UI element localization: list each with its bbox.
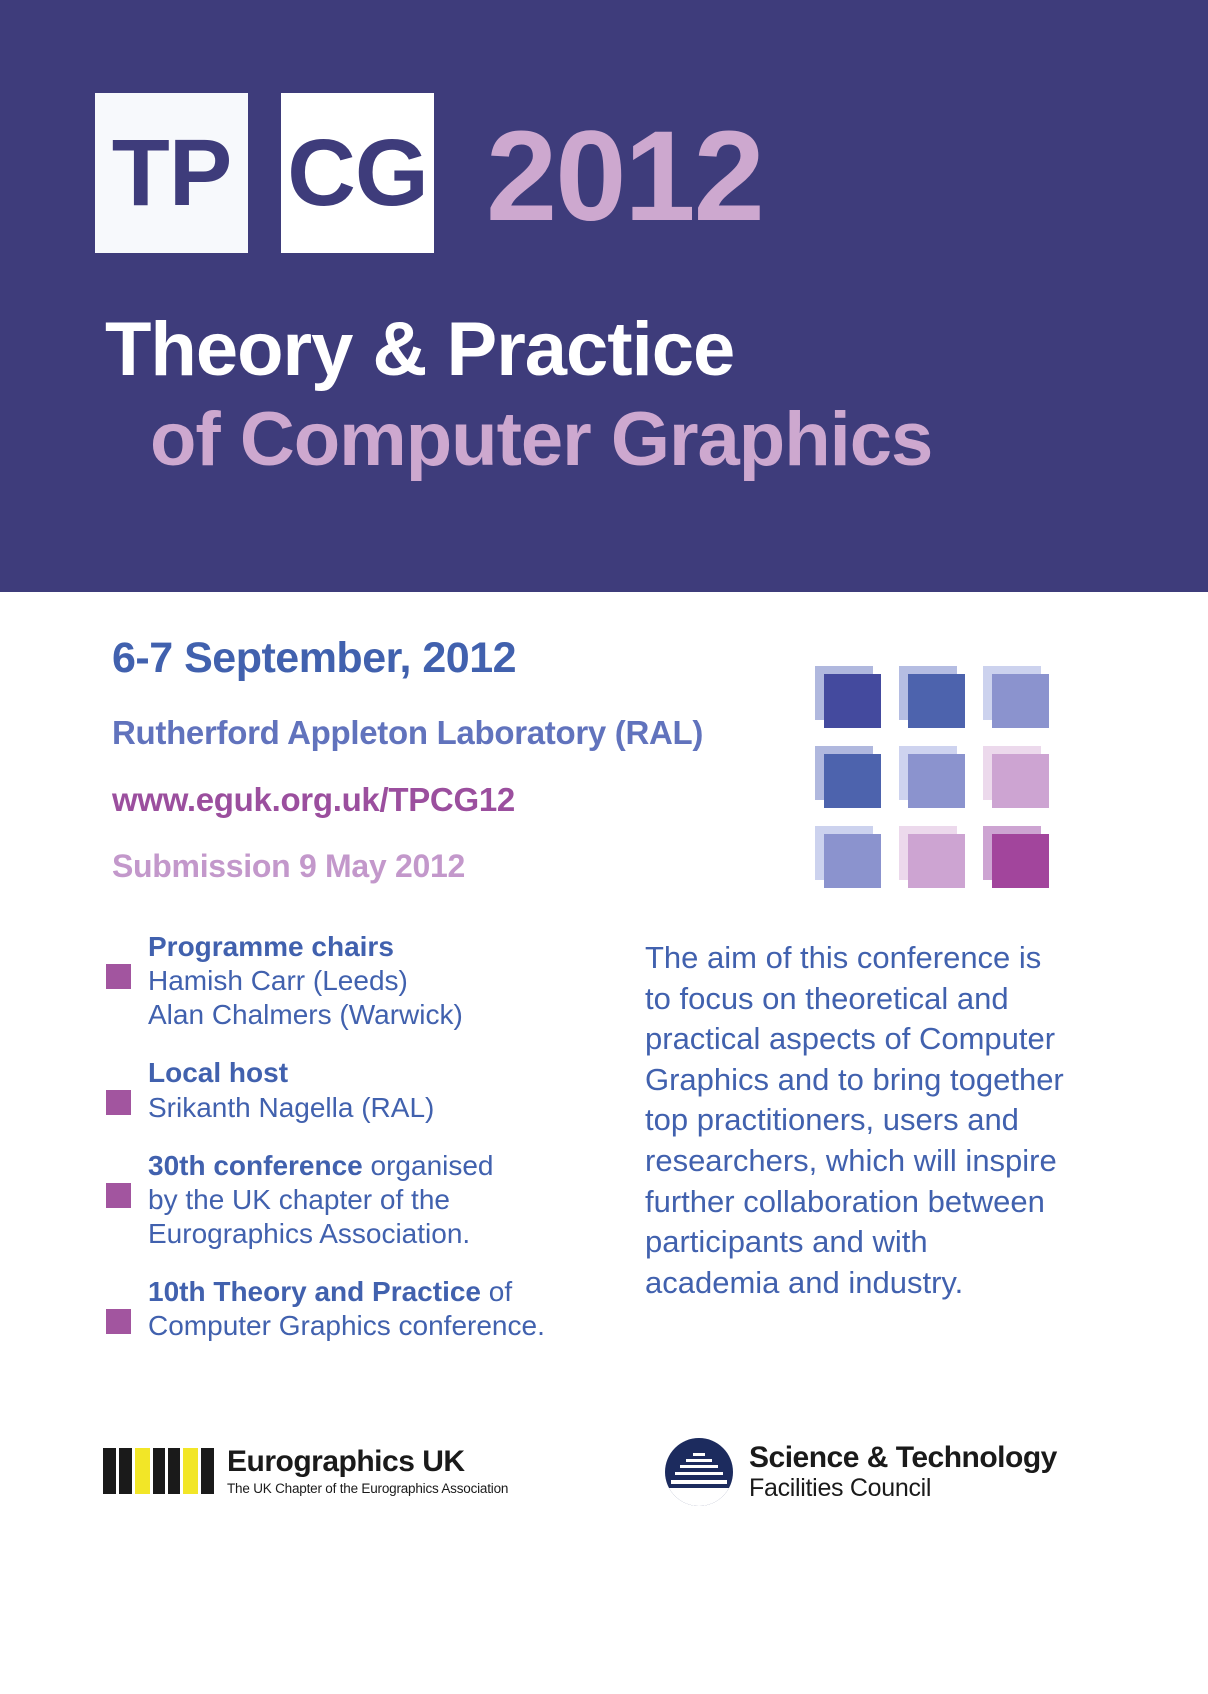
conference-url[interactable]: www.eguk.org.uk/TPCG12 [112,781,515,819]
bullet-text: Programme chairsHamish Carr (Leeds)Alan … [148,930,606,1032]
grid-square-7 [815,826,881,888]
grid-square-face [824,834,881,888]
bullet-heading: Programme chairs [148,930,606,964]
logo-box-tp: TP [95,93,248,253]
programme-info-list: Programme chairsHamish Carr (Leeds)Alan … [106,930,606,1368]
bullet-heading-inline: 30th conference [148,1150,363,1181]
bullet-item: 30th conference organisedby the UK chapt… [106,1149,606,1251]
grid-square-1 [815,666,881,728]
eguk-name: Eurographics UK [227,1446,508,1478]
poster-title-line2: of Computer Graphics [150,400,932,480]
bullet-line: Alan Chalmers (Warwick) [148,998,606,1032]
grid-square-face [992,674,1049,728]
bullet-line: Hamish Carr (Leeds) [148,964,606,998]
logo-text-cg: CG [287,126,428,221]
bullet-heading-rest: of [481,1276,512,1307]
bullet-heading-inline: 10th Theory and Practice [148,1276,481,1307]
conference-date: 6-7 September, 2012 [112,634,516,683]
bullet-line: Computer Graphics conference. [148,1309,606,1343]
decorative-squares-grid [815,666,1050,891]
bullet-square-icon [106,1309,131,1334]
bullet-heading-rest: organised [363,1150,494,1181]
bullet-square-icon [106,964,131,989]
grid-square-face [992,834,1049,888]
bullet-square-icon [106,1183,131,1208]
grid-square-face [908,674,965,728]
grid-square-8 [899,826,965,888]
poster-header-band: TP CG 2012 Theory & Practice of Computer… [0,0,1208,592]
eguk-logo: Eurographics UK The UK Chapter of the Eu… [103,1446,508,1497]
grid-square-face [992,754,1049,808]
bullet-heading: Local host [148,1056,606,1090]
poster-title-line1: Theory & Practice [105,310,734,390]
grid-square-face [824,674,881,728]
eguk-mark-icon [103,1448,217,1494]
tpcg-logo: TP CG 2012 [95,93,763,253]
bullet-square-icon [106,1090,131,1115]
grid-square-3 [983,666,1049,728]
bullet-line: Eurographics Association. [148,1217,606,1251]
grid-square-6 [983,746,1049,808]
bullet-item: 10th Theory and Practice ofComputer Grap… [106,1275,606,1343]
conference-venue: Rutherford Appleton Laboratory (RAL) [112,714,703,752]
grid-square-4 [815,746,881,808]
grid-square-5 [899,746,965,808]
stfc-line2: Facilities Council [749,1474,1057,1503]
bullet-text: Local hostSrikanth Nagella (RAL) [148,1056,606,1124]
stfc-sunburst-icon [665,1438,733,1506]
bullet-line: Srikanth Nagella (RAL) [148,1091,606,1125]
grid-square-face [908,834,965,888]
stfc-line1: Science & Technology [749,1441,1057,1474]
grid-square-9 [983,826,1049,888]
bullet-line: 30th conference organised [148,1149,606,1183]
bullet-item: Programme chairsHamish Carr (Leeds)Alan … [106,930,606,1032]
grid-square-face [824,754,881,808]
eguk-subtitle: The UK Chapter of the Eurographics Assoc… [227,1481,508,1497]
grid-square-2 [899,666,965,728]
logo-box-cg: CG [281,93,434,253]
bullet-line: by the UK chapter of the [148,1183,606,1217]
logo-text-tp: TP [112,126,231,221]
submission-deadline: Submission 9 May 2012 [112,848,465,885]
bullet-text: 30th conference organisedby the UK chapt… [148,1149,606,1251]
stfc-logo: Science & Technology Facilities Council [665,1438,1057,1506]
logo-year: 2012 [486,113,763,241]
grid-square-face [908,754,965,808]
conference-aim-text: The aim of this conference is to focus o… [645,938,1065,1303]
bullet-line: 10th Theory and Practice of [148,1275,606,1309]
bullet-text: 10th Theory and Practice ofComputer Grap… [148,1275,606,1343]
bullet-item: Local hostSrikanth Nagella (RAL) [106,1056,606,1124]
